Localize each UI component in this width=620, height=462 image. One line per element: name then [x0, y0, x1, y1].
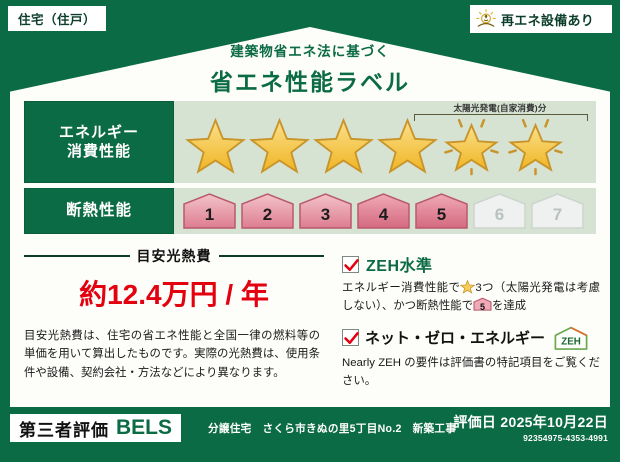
divider-right	[219, 255, 325, 257]
utility-cost-section: 目安光熱費 約12.4万円 / 年 目安光熱費は、住宅の省エネ性能と全国一律の燃…	[24, 246, 324, 382]
energy-performance-value: 太陽光発電(自家消費)分	[174, 101, 596, 183]
energy-key-line2: 消費性能	[67, 142, 131, 161]
building-type-label: 住宅（住戸）	[18, 9, 96, 28]
check-icon	[343, 257, 360, 274]
insulation-level-number: 3	[298, 205, 353, 225]
solar-bracket	[414, 114, 588, 121]
insulation-performance-key: 断熱性能	[24, 188, 174, 234]
insulation-level-number: 2	[240, 205, 295, 225]
energy-performance-key: エネルギー 消費性能	[24, 101, 174, 183]
insulation-level-number: 1	[182, 205, 237, 225]
zeh-standard-title: ZEH水準	[366, 252, 433, 276]
renewable-badge-label: 再エネ設備あり	[501, 10, 594, 29]
solar-note-label: 太陽光発電(自家消費)分	[410, 102, 590, 114]
insulation-level-chip: 6	[472, 192, 527, 230]
bels-badge: 第三者評価 BELS	[10, 414, 181, 442]
star-icon	[312, 114, 375, 176]
insulation-level-number: 4	[356, 205, 411, 225]
evaluation-info: 評価日 2025年10月22日 92354975-4353-4991	[453, 412, 608, 443]
insulation-level-chip: 7	[530, 192, 585, 230]
house-badge-icon: 5	[473, 297, 492, 311]
utility-cost-label: 目安光熱費	[137, 246, 212, 266]
net-zero-body: Nearly ZEH の要件は評価書の特記項目をご覧ください。	[342, 354, 600, 391]
check-icon	[343, 330, 360, 347]
insulation-level-number: 6	[472, 205, 527, 225]
star-solar-icon	[440, 114, 503, 176]
sun-icon	[475, 8, 497, 30]
title-subtitle: 建築物省エネ法に基づく	[0, 40, 620, 60]
zeh-body-part3: を達成	[492, 300, 526, 312]
utility-cost-description: 目安光熱費は、住宅の省エネ性能と全国一律の燃料等の単価を用いて算出したものです。…	[24, 327, 320, 382]
insulation-performance-value: 1 2 3 4 5	[174, 188, 596, 234]
insulation-performance-row: 断熱性能 1 2 3	[24, 188, 596, 234]
divider-left	[24, 255, 130, 257]
insulation-level-number: 5	[414, 205, 469, 225]
net-zero-check-row: ネット・ゼロ・エネルギー ZEH	[342, 325, 600, 351]
title-block: 建築物省エネ法に基づく 省エネ性能ラベル	[0, 40, 620, 97]
star-icon	[376, 114, 439, 176]
zeh-logo: ZEH	[551, 325, 591, 351]
energy-performance-row: エネルギー 消費性能 太陽光発電(自家消費)分	[24, 101, 596, 183]
star-icon	[460, 279, 475, 294]
checkbox-zeh-standard[interactable]	[342, 256, 359, 273]
evaluation-date: 評価日 2025年10月22日	[453, 412, 608, 432]
star-icon	[248, 114, 311, 176]
certification-checks: ZEH水準 エネルギー消費性能で3つ（太陽光発電は考慮しない）、かつ断熱性能で5…	[342, 252, 600, 391]
svg-text:ZEH: ZEH	[561, 336, 581, 347]
net-zero-title: ネット・ゼロ・エネルギー	[365, 327, 545, 348]
zeh-body-part1: エネルギー消費性能で	[342, 282, 460, 294]
page-title: 省エネ性能ラベル	[0, 63, 620, 97]
insulation-key-label: 断熱性能	[66, 201, 132, 221]
star-icon	[184, 114, 247, 176]
building-type-tag: 住宅（住戸）	[8, 6, 106, 31]
insulation-level-chip: 2	[240, 192, 295, 230]
performance-section: エネルギー 消費性能 太陽光発電(自家消費)分 断熱性能	[24, 101, 596, 239]
insulation-level-scale: 1 2 3 4 5	[174, 192, 585, 230]
insulation-level-chip: 3	[298, 192, 353, 230]
energy-performance-label: 住宅（住戸） 再エネ設備あり 建築物省エネ法に基づく 省エネ性能ラベル	[0, 0, 620, 462]
checkbox-net-zero[interactable]	[342, 329, 359, 346]
star-solar-icon	[504, 114, 567, 176]
building-name: 分譲住宅 さくら市きぬの里5丁目No.2 新築工事	[208, 421, 456, 436]
insulation-level-chip: 1	[182, 192, 237, 230]
insulation-level-chip-achieved: 5	[414, 192, 469, 230]
house-badge-number: 5	[473, 300, 492, 315]
star-rating	[178, 114, 567, 176]
insulation-level-number: 7	[530, 205, 585, 225]
zeh-standard-check-row: ZEH水準	[342, 252, 600, 276]
insulation-level-chip: 4	[356, 192, 411, 230]
bels-en-label: BELS	[116, 416, 172, 440]
evaluation-number: 92354975-4353-4991	[453, 433, 608, 443]
energy-key-line1: エネルギー	[59, 123, 139, 142]
zeh-standard-body: エネルギー消費性能で3つ（太陽光発電は考慮しない）、かつ断熱性能で5を達成	[342, 279, 600, 316]
footer-bar: 第三者評価 BELS 分譲住宅 さくら市きぬの里5丁目No.2 新築工事 評価日…	[0, 407, 620, 462]
bels-jp-label: 第三者評価	[19, 416, 109, 441]
renewable-energy-badge: 再エネ設備あり	[470, 5, 612, 33]
utility-cost-amount: 約12.4万円 / 年	[24, 273, 324, 313]
utility-cost-heading: 目安光熱費	[24, 246, 324, 266]
